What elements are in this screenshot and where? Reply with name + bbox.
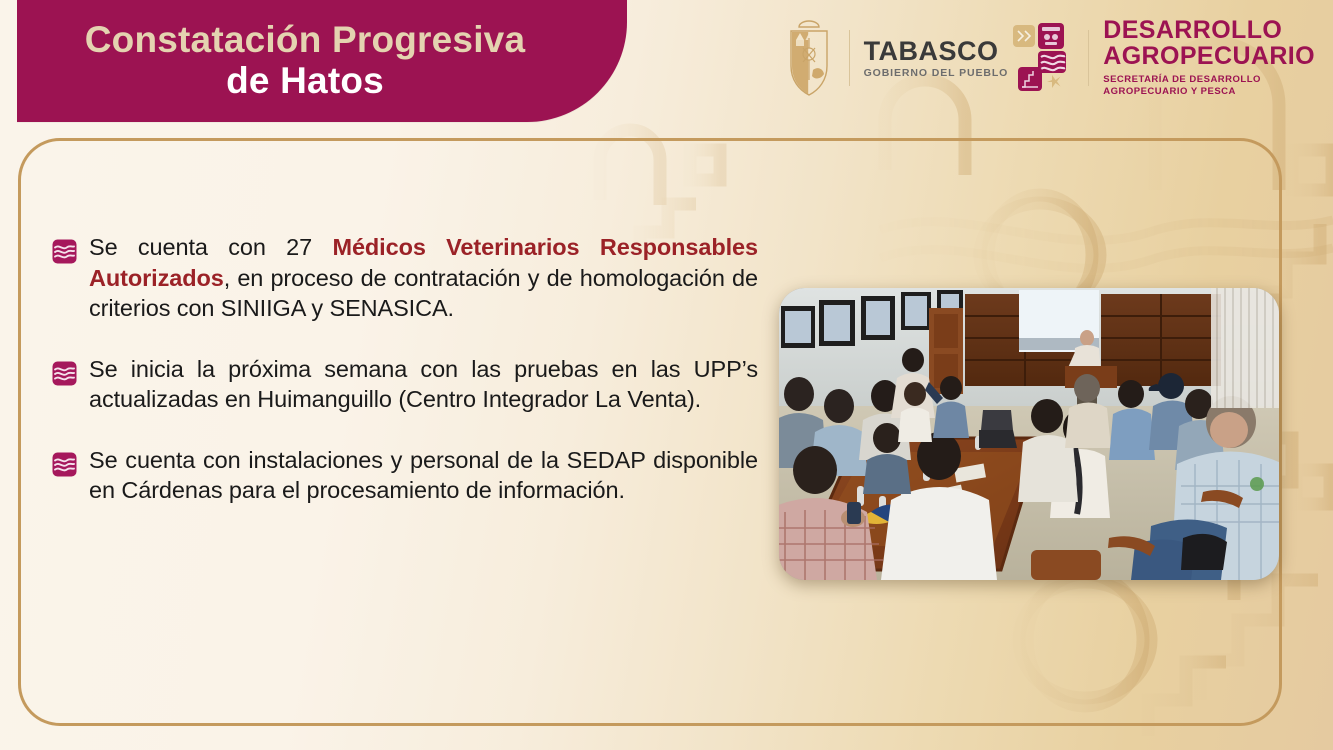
tabasco-coat-of-arms-icon — [783, 18, 835, 98]
sedap-subtitle-line-1: SECRETARÍA DE DESARROLLO — [1103, 74, 1261, 85]
title-banner: Constatación Progresiva de Hatos — [17, 0, 627, 122]
mayan-glyph-blocks-icon — [1012, 23, 1074, 93]
page-title-line-2: de Hatos — [226, 60, 384, 101]
sedap-subtitle-line-2: AGROPECUARIO Y PESCA — [1103, 86, 1236, 97]
list-item: Se cuenta con instalaciones y personal d… — [52, 445, 758, 506]
tabasco-wordmark: TABASCO — [864, 38, 1009, 65]
logo-divider-2 — [1088, 30, 1089, 86]
list-item-text: Se cuenta con instalaciones y personal d… — [89, 445, 758, 506]
bullet-list: Se cuenta con 27 Médicos Veterinarios Re… — [52, 232, 758, 506]
logo-divider — [849, 30, 850, 86]
tabasco-tagline: GOBIERNO DEL PUEBLO — [864, 68, 1009, 79]
logo-lockup: TABASCO GOBIERNO DEL PUEBLO — [783, 14, 1315, 102]
meeting-room-photo — [779, 288, 1279, 580]
sedap-brand: DESARROLLO AGROPECUARIO SECRETARÍA DE DE… — [1103, 18, 1315, 98]
sedap-line-1: DESARROLLO — [1103, 18, 1315, 43]
wave-mark-icon — [52, 239, 77, 264]
sedap-subtitle: SECRETARÍA DE DESARROLLO AGROPECUARIO Y … — [1103, 74, 1315, 98]
bullet-1-pre: Se cuenta con 27 — [89, 234, 332, 260]
tabasco-brand: TABASCO GOBIERNO DEL PUEBLO — [864, 23, 1075, 93]
page-title-line-1: Constatación Progresiva — [85, 20, 526, 60]
list-item-text: Se inicia la próxima semana con las prue… — [89, 354, 758, 415]
slide: Constatación Progresiva de Hatos — [0, 0, 1333, 750]
wave-mark-icon — [52, 452, 77, 477]
list-item: Se cuenta con 27 Médicos Veterinarios Re… — [52, 232, 758, 324]
list-item-text: Se cuenta con 27 Médicos Veterinarios Re… — [89, 232, 758, 324]
list-item: Se inicia la próxima semana con las prue… — [52, 354, 758, 415]
wave-mark-icon — [52, 361, 77, 386]
sedap-line-2: AGROPECUARIO — [1103, 44, 1315, 69]
